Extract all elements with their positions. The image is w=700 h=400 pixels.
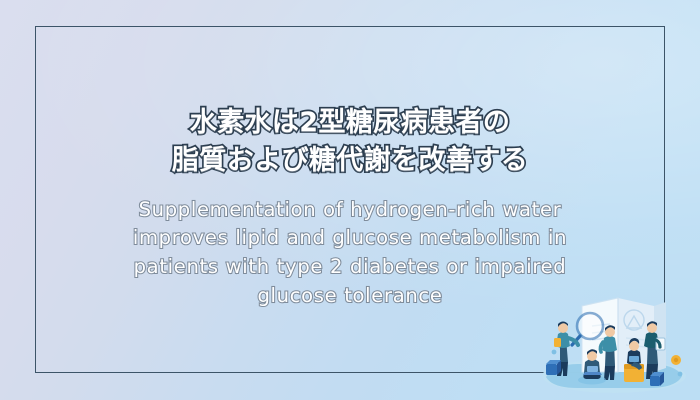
page-subtitle-english: Supplementation of hydrogen-rich water i… bbox=[35, 196, 665, 311]
title-ja-line-1: 水素水は2型糖尿病患者の bbox=[190, 107, 511, 138]
slide-content: 水素水は2型糖尿病患者の 脂質および糖代謝を改善する Supplementati… bbox=[35, 26, 665, 373]
slide-canvas: 水素水は2型糖尿病患者の 脂質および糖代謝を改善する Supplementati… bbox=[0, 0, 700, 400]
title-en-line-1: Supplementation of hydrogen-rich water bbox=[139, 198, 562, 221]
title-en-line-2: improves lipid and glucose metabolism in bbox=[133, 226, 567, 249]
title-en-line-3: patients with type 2 diabetes or impaire… bbox=[134, 255, 567, 278]
title-en-line-4: glucose tolerance bbox=[257, 284, 442, 307]
title-ja-line-2: 脂質および糖代謝を改善する bbox=[172, 145, 528, 176]
page-title-japanese: 水素水は2型糖尿病患者の 脂質および糖代謝を改善する bbox=[35, 104, 665, 181]
